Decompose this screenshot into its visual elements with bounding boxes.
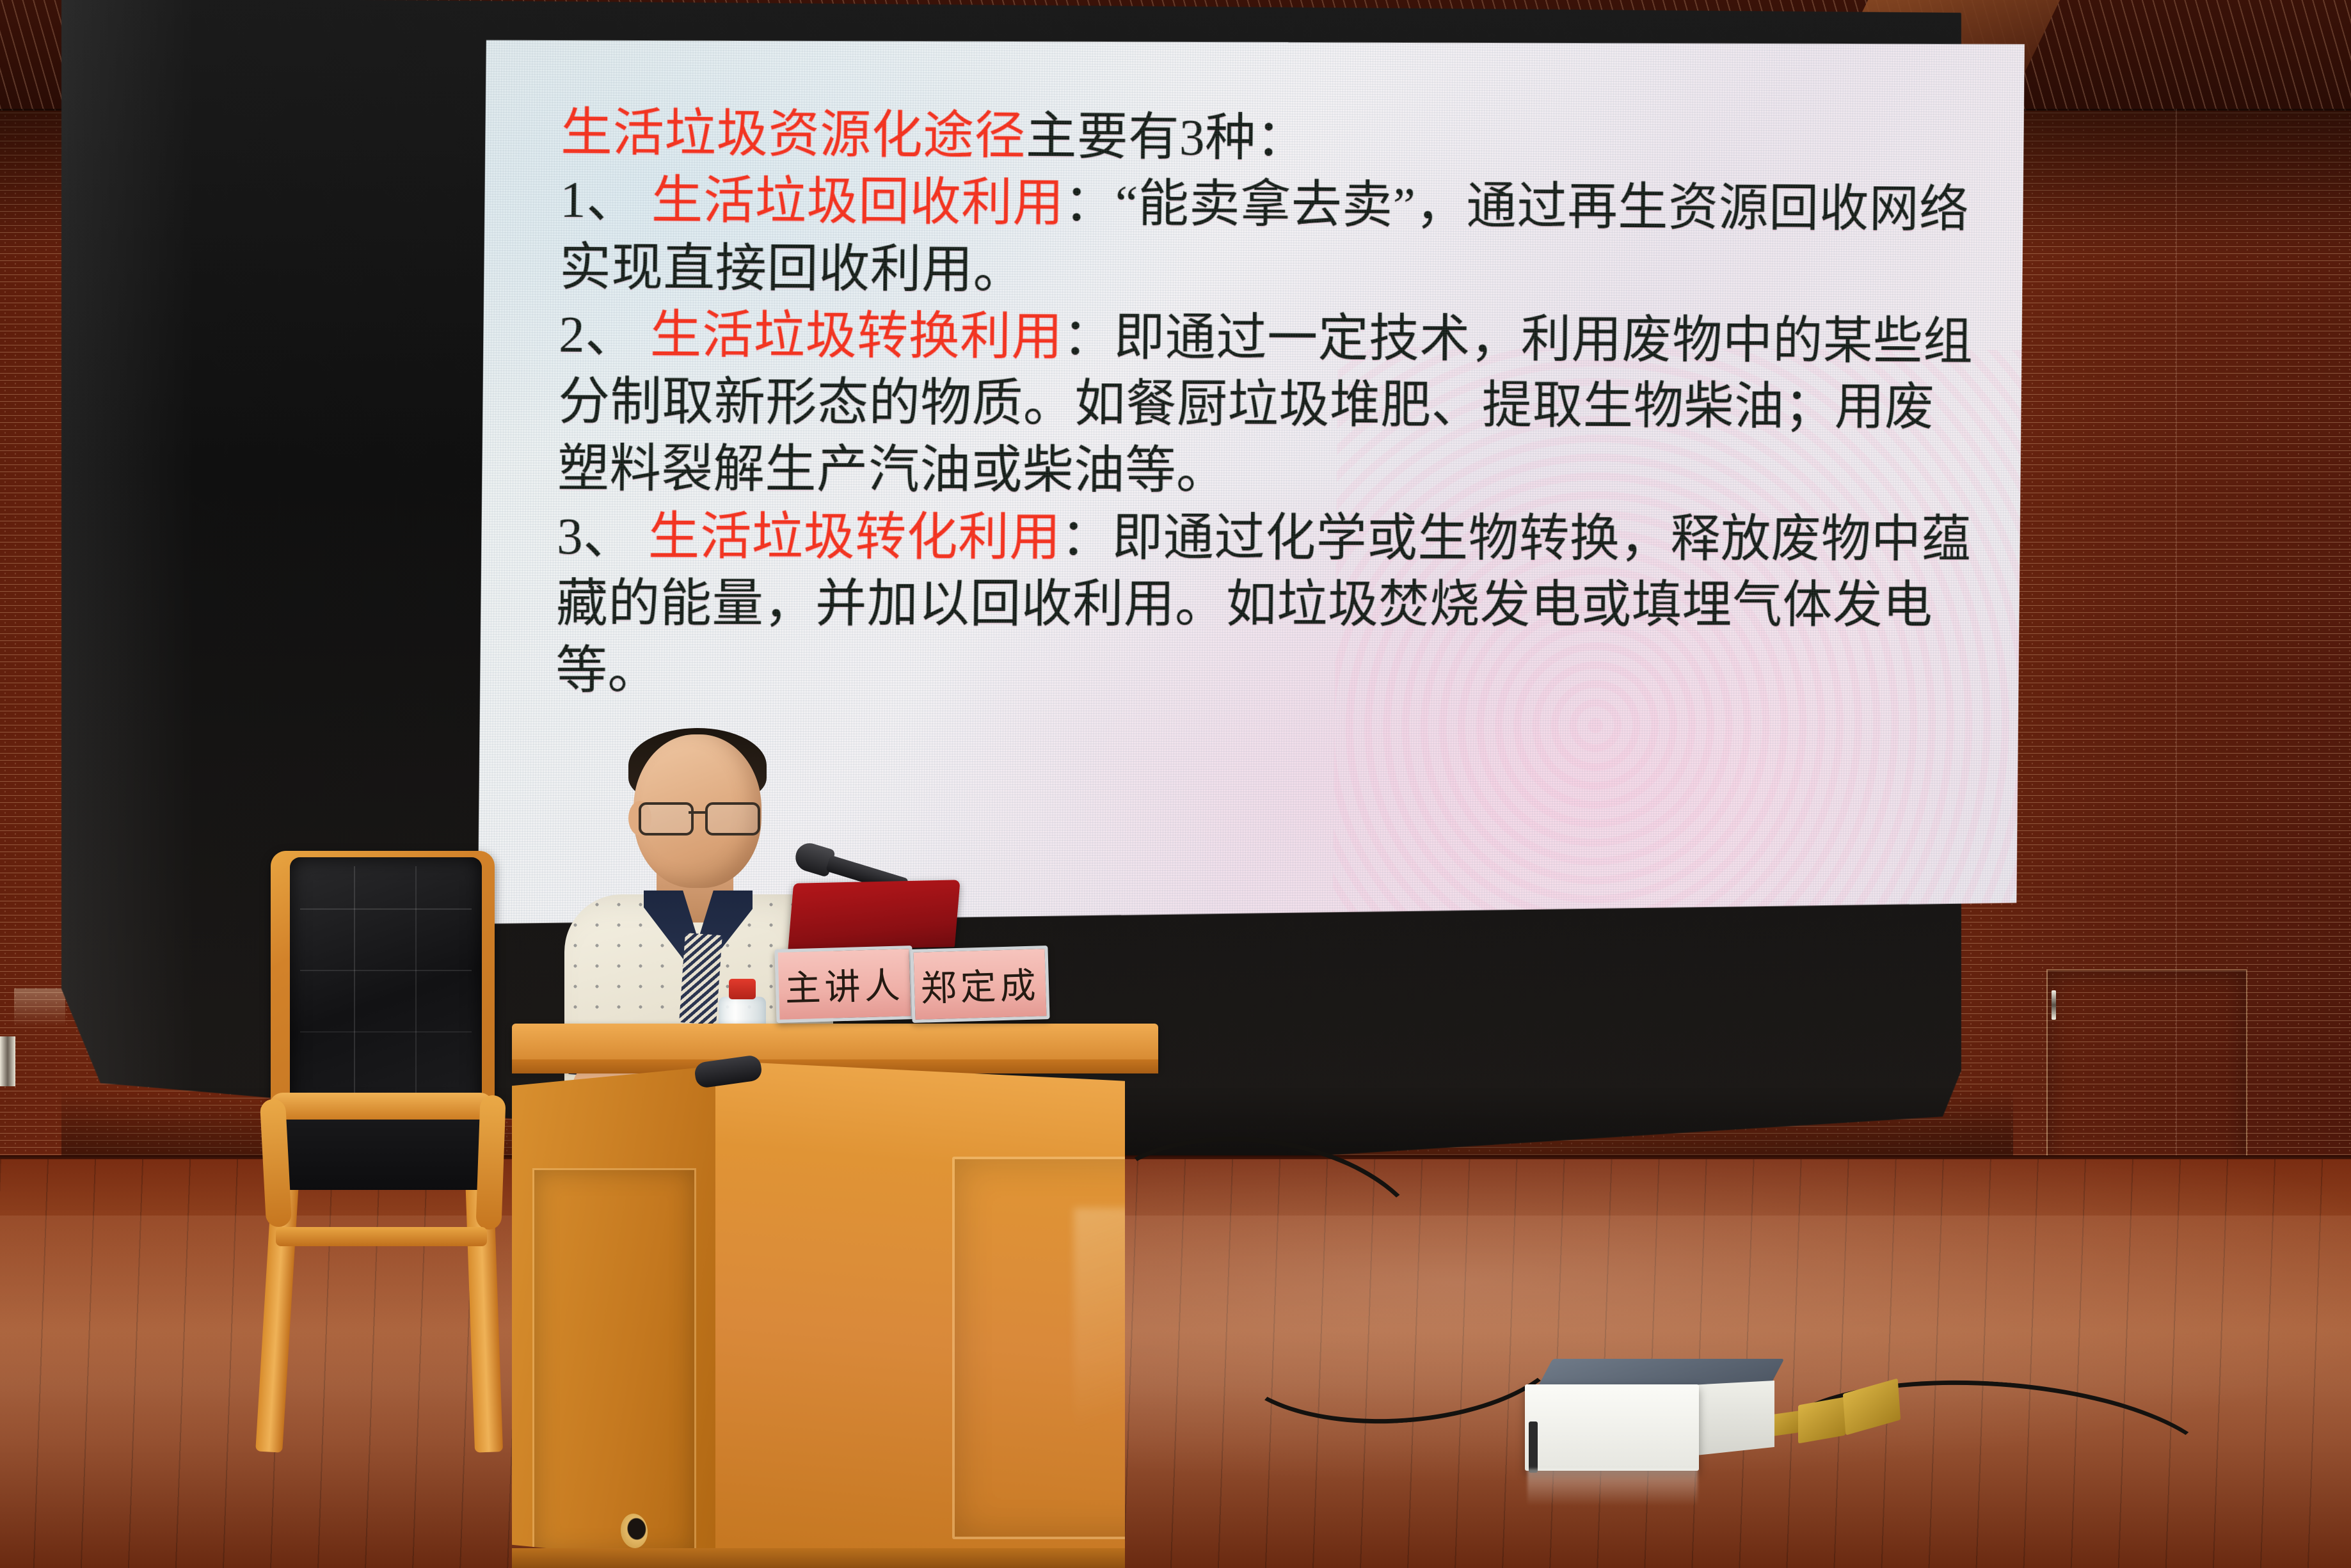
slide-text-block: 生活垃圾资源化途径主要有3种：1、 生活垃圾回收利用：“能卖拿去卖”，通过再生资… <box>555 99 2000 705</box>
slide-body-text: 3、 <box>557 507 649 565</box>
slide-line: 分制取新形态的物质。如餐厨垃圾堆肥、提取生物柴油；用废 <box>558 368 1997 441</box>
slide-line: 3、 生活垃圾转化利用：即通过化学或生物转换，释放废物中蕴 <box>557 503 1996 573</box>
speaker-glasses <box>639 802 761 832</box>
glasses-lens-left <box>639 802 694 835</box>
chair-leather-cushion <box>290 857 482 1110</box>
slide-body-text: 实现直接回收利用。 <box>559 238 1025 298</box>
wall-plate <box>0 1036 15 1086</box>
slide-body-text: 2、 <box>559 306 651 364</box>
bottle-cap <box>729 979 756 999</box>
glasses-lens-right <box>705 802 760 835</box>
podium-base <box>512 1548 1125 1568</box>
slide-body-text: 等。 <box>555 642 660 699</box>
podium-side-panel <box>512 1066 718 1565</box>
door-handle-icon[interactable] <box>2052 990 2056 1020</box>
chair-armrest <box>269 1093 493 1120</box>
chair-rail <box>276 1227 487 1246</box>
podium <box>512 1024 1158 1568</box>
slide-line: 2、 生活垃圾转换利用：即通过一定技术，利用废物中的某些组 <box>559 301 1998 376</box>
slide-highlight-text: 生活垃圾回收利用 <box>651 171 1065 232</box>
slide-line: 1、 生活垃圾回收利用：“能卖拿去卖”，通过再生资源回收网络 <box>560 166 1999 243</box>
slide-body-text: 主要有3种： <box>1026 107 1307 167</box>
floor-box-reflection <box>1527 1469 1698 1506</box>
chair-back-frame <box>271 851 495 1120</box>
slide-body-text: ：即通过一定技术，利用废物中的某些组 <box>1062 308 1973 370</box>
slide-body-text: 塑料裂解生产汽油或柴油等。 <box>557 440 1227 500</box>
wall-seam <box>14 988 65 1027</box>
bezel-gloss <box>61 0 195 1178</box>
laptop[interactable] <box>788 880 960 950</box>
slide-body-text: 藏的能量，并加以回收利用。如垃圾焚烧发电或填埋气体发电 <box>556 574 1933 633</box>
slide-line: 塑料裂解生产汽油或柴油等。 <box>557 436 1996 507</box>
slide-highlight-text: 生活垃圾转化利用 <box>648 507 1062 566</box>
floor-box-cable-slot <box>1529 1421 1538 1473</box>
slide-line: 实现直接回收利用。 <box>559 234 1998 309</box>
slide-body-text: ：“能卖拿去卖”，通过再生资源回收网络 <box>1064 175 1969 238</box>
speaker-placket <box>679 933 722 1025</box>
podium-side-inset <box>532 1168 696 1556</box>
slide-line: 生活垃圾资源化途径主要有3种： <box>561 99 2000 177</box>
slide-highlight-text: 生活垃圾资源化途径 <box>561 104 1026 164</box>
chair-arm-support-right <box>475 1095 506 1230</box>
nameplate-name: 郑定成 <box>910 946 1049 1023</box>
slide-body-text: ：即通过化学或生物转换，释放废物中蕴 <box>1060 509 1972 567</box>
podium-front-panel <box>715 1061 1125 1568</box>
slide-highlight-text: 生活垃圾转换利用 <box>650 306 1064 365</box>
armchair[interactable] <box>240 851 541 1459</box>
scene-root: 生活垃圾资源化途径主要有3种：1、 生活垃圾回收利用：“能卖拿去卖”，通过再生资… <box>0 0 2351 1568</box>
slide-body-text: 分制取新形态的物质。如餐厨垃圾堆肥、提取生物柴油；用废 <box>558 373 1935 436</box>
slide-line: 藏的能量，并加以回收利用。如垃圾焚烧发电或填埋气体发电 <box>556 570 1995 638</box>
floor-box-front <box>1525 1384 1699 1471</box>
cable-floor-box[interactable] <box>1525 1359 1774 1471</box>
slide-line: 等。 <box>555 638 1995 705</box>
nameplate-role: 主讲人 <box>774 946 914 1023</box>
floor-box-side <box>1690 1381 1774 1456</box>
glasses-bridge <box>689 811 705 814</box>
slide-body-text: 1、 <box>560 171 652 229</box>
